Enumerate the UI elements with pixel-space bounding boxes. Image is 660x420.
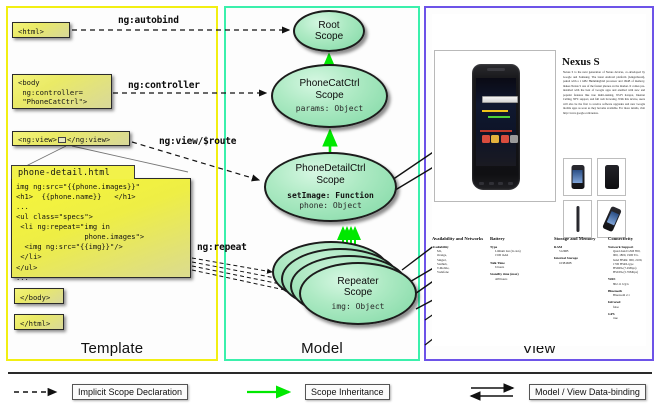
phone-app-icons <box>481 135 519 151</box>
phone-speaker-icon <box>487 68 505 71</box>
phone-screen-bar-2 <box>488 116 510 118</box>
view-page-title: Nexus S <box>562 56 600 68</box>
phone-key-2 <box>489 182 494 185</box>
scope-phonedetailctrl-name-line2: Scope <box>316 175 344 186</box>
spec-header-storage: Storage and Memory <box>554 236 612 242</box>
label-ng-view-route: ng:view/$route <box>159 136 236 147</box>
spec-values-infrared: false <box>613 305 660 309</box>
spec-values-network-support: Quad-band GSM 850, 900, 1800, 1900 Tri- … <box>613 249 660 274</box>
ngview-placeholder-icon <box>58 137 66 143</box>
phone-app-icon-3 <box>501 135 509 143</box>
scope-repeater-name-line2: Scope <box>344 287 372 298</box>
panel-template-title: Template <box>8 340 216 357</box>
panel-model-title: Model <box>226 340 418 357</box>
label-ng-autobind: ng:autobind <box>118 15 179 26</box>
phone-key-1 <box>479 182 484 185</box>
spec-values-internal-storage: 16384MB <box>559 261 612 265</box>
scope-phonecatctrl: PhoneCatCtrl Scope params: Object <box>271 64 388 128</box>
phone-app-icon-2 <box>491 135 499 143</box>
spec-header-connectivity: Connectivity <box>608 236 660 242</box>
spec-header-availability: Availability and Networks <box>432 236 488 242</box>
code-html-open: <html> <box>12 22 70 38</box>
phone-screen-bar-3 <box>480 130 512 132</box>
spec-values-battery-talktime: 6 hours <box>495 265 552 269</box>
spec-values-bluetooth: Bluetooth 2.1 <box>613 293 660 297</box>
spec-column-storage: Storage and Memory RAM 512MB Internal St… <box>554 236 612 265</box>
callout-filename: phone-detail.html <box>11 165 135 179</box>
diagram-canvas: Template Model View <box>0 0 660 420</box>
phone-app-icon-1 <box>482 135 490 143</box>
thumb-screen-1 <box>573 170 583 183</box>
legend-label-scope-inheritance: Scope Inheritance <box>305 384 390 400</box>
code-ngview: <ng:view></ng:view> <box>12 131 130 146</box>
scope-repeater-name-line1: Repeater <box>337 276 378 287</box>
label-ng-controller: ng:controller <box>128 80 200 91</box>
view-description-paragraph: Nexus S is the next generation of Nexus … <box>563 70 645 115</box>
ngview-close-tag: </ng:view> <box>67 135 110 144</box>
spec-column-availability: Availability and Networks Availability M… <box>432 236 488 274</box>
spec-values-ram: 512MB <box>559 249 612 253</box>
thumb-device-2 <box>605 165 619 189</box>
thumb-device-1 <box>571 165 584 189</box>
spec-values-battery-type: Lithium Ion (Li-Ion) 1500 mAh <box>495 249 552 257</box>
phone-app-icon-4 <box>510 135 518 143</box>
phone-key-3 <box>498 182 503 185</box>
legend-divider <box>8 372 652 374</box>
scope-root-name-line1: Root <box>318 20 339 31</box>
spec-header-battery: Battery <box>490 236 552 242</box>
phone-screen-bar-1 <box>482 110 508 112</box>
phone-device-image <box>472 64 520 190</box>
scope-phonecatctrl-name-line2: Scope <box>315 90 343 101</box>
scope-phonecatctrl-prop-params: params: Object <box>296 104 363 114</box>
scope-root-name-line2: Scope <box>315 31 343 42</box>
spec-values-availability: M1, Orange, Singtel, Starhub, T-Mobile, … <box>437 249 488 274</box>
scope-phonedetailctrl: PhoneDetailCtrl Scope setImage: Function… <box>264 152 397 222</box>
code-html-close: </html> <box>14 314 64 330</box>
view-thumbnail-4[interactable] <box>597 200 626 238</box>
legend-label-implicit-scope-declaration: Implicit Scope Declaration <box>72 384 188 400</box>
legend-green-arrow-icon <box>243 383 299 401</box>
view-spec-table: Availability and Networks Availability M… <box>432 236 646 336</box>
legend-label-model-view-data-binding: Model / View Data-binding <box>529 384 646 400</box>
callout-code: img ng:src="{{phone.images}}" <h1> {{pho… <box>11 178 191 278</box>
phone-search-widget <box>482 96 518 103</box>
view-thumbnail-1[interactable] <box>563 158 592 196</box>
legend-item-model-view-data-binding: Model / View Data-binding <box>467 383 646 401</box>
phone-screen <box>476 78 516 166</box>
code-body-close: </body> <box>14 288 64 304</box>
legend-double-arrow-icon <box>467 383 523 401</box>
scope-phonedetailctrl-prop-phone: phone: Object <box>299 201 362 211</box>
callout-phone-detail: phone-detail.html img ng:src="{{phone.im… <box>11 165 191 280</box>
phone-hero-frame <box>434 50 556 202</box>
thumb-device-4 <box>602 206 622 232</box>
spec-column-connectivity: Connectivity Network Support Quad-band G… <box>608 236 660 321</box>
phone-nav-keys <box>477 180 515 187</box>
scope-phonedetailctrl-prop-setimage: setImage: Function <box>287 191 374 200</box>
phone-key-4 <box>508 182 513 185</box>
scope-phonecatctrl-name-line1: PhoneCatCtrl <box>299 78 359 89</box>
view-rendered-page: Nexus S Nexus S is the next generation o… <box>432 14 646 346</box>
scope-repeater-prop-img: img: Object <box>332 302 385 312</box>
legend-item-scope-inheritance: Scope Inheritance <box>243 383 390 401</box>
legend-dashed-arrow-icon <box>10 383 66 401</box>
view-thumbnail-2[interactable] <box>597 158 626 196</box>
spec-values-gps: true <box>613 316 660 320</box>
view-thumbnail-3[interactable] <box>563 200 592 238</box>
legend: Implicit Scope Declaration Scope Inherit… <box>0 383 660 407</box>
ngview-open-tag: <ng:view> <box>18 135 57 144</box>
scope-repeater: Repeater Scope img: Object <box>299 262 417 325</box>
spec-values-battery-standby: 428 hours <box>495 277 552 281</box>
thumb-screen-4 <box>606 211 618 225</box>
scope-phonedetailctrl-name-line1: PhoneDetailCtrl <box>295 163 365 174</box>
code-body-open: <body ng:controller= "PhoneCatCtrl"> <box>12 74 112 109</box>
spec-values-wifi: 802.11 b/g/n <box>613 282 660 286</box>
legend-item-implicit-scope-declaration: Implicit Scope Declaration <box>10 383 188 401</box>
spec-column-battery: Battery Type Lithium Ion (Li-Ion) 1500 m… <box>490 236 552 281</box>
label-ng-repeat: ng:repeat <box>197 242 247 253</box>
scope-root: Root Scope <box>293 10 365 52</box>
thumb-device-3 <box>576 206 579 232</box>
